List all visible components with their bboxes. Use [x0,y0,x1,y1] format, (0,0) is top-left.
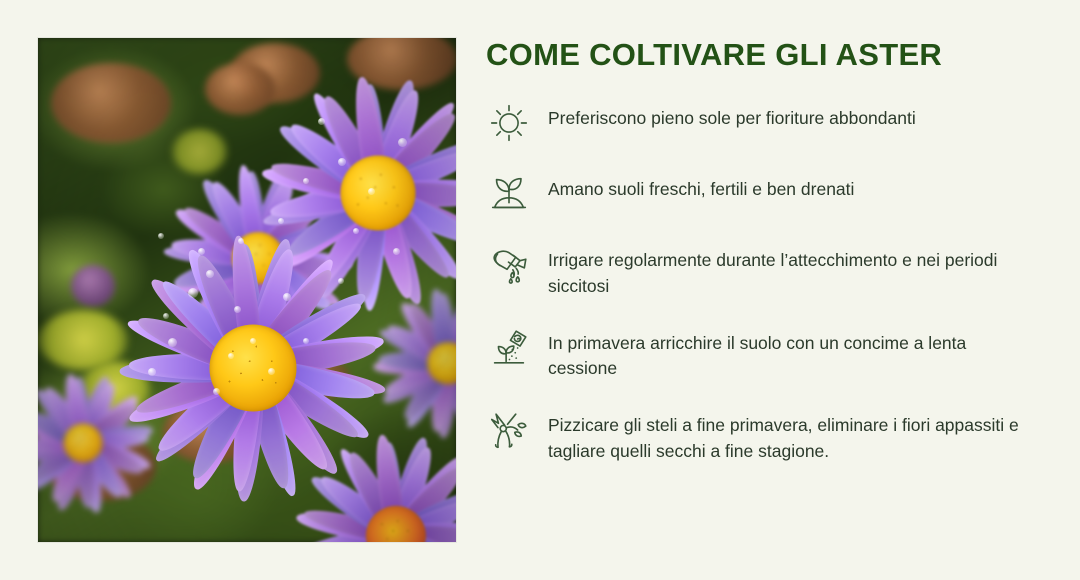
sprout-icon [486,171,532,217]
page-title: COME COLTIVARE GLI ASTER [486,38,1042,72]
photo-vignette [38,38,456,542]
list-item: Pizzicare gli steli a fine primavera, el… [486,409,1042,464]
list-item-label: In primavera arricchire il suolo con un … [548,327,1028,382]
infographic-page: COME COLTIVARE GLI ASTER [0,0,1080,580]
photo-canvas [38,38,456,542]
watering-can-icon [486,242,532,288]
list-item-label: Irrigare regolarmente durante l’attecchi… [548,244,1028,299]
list-item: Irrigare regolarmente durante l’attecchi… [486,244,1042,299]
list-item: Preferiscono pieno sole per fioriture ab… [486,102,1042,146]
tips-list: Preferiscono pieno sole per fioriture ab… [486,102,1042,464]
pruning-shears-icon [486,407,532,453]
list-item: Amano suoli freschi, fertili e ben drena… [486,173,1042,217]
list-item-label: Amano suoli freschi, fertili e ben drena… [548,173,854,203]
aster-photo [38,38,456,542]
list-item-label: Pizzicare gli steli a fine primavera, el… [548,409,1028,464]
list-item-label: Preferiscono pieno sole per fioriture ab… [548,102,916,132]
sun-icon [486,100,532,146]
list-item: In primavera arricchire il suolo con un … [486,327,1042,382]
fertilizer-icon [486,325,532,371]
content-column: COME COLTIVARE GLI ASTER [486,38,1042,464]
